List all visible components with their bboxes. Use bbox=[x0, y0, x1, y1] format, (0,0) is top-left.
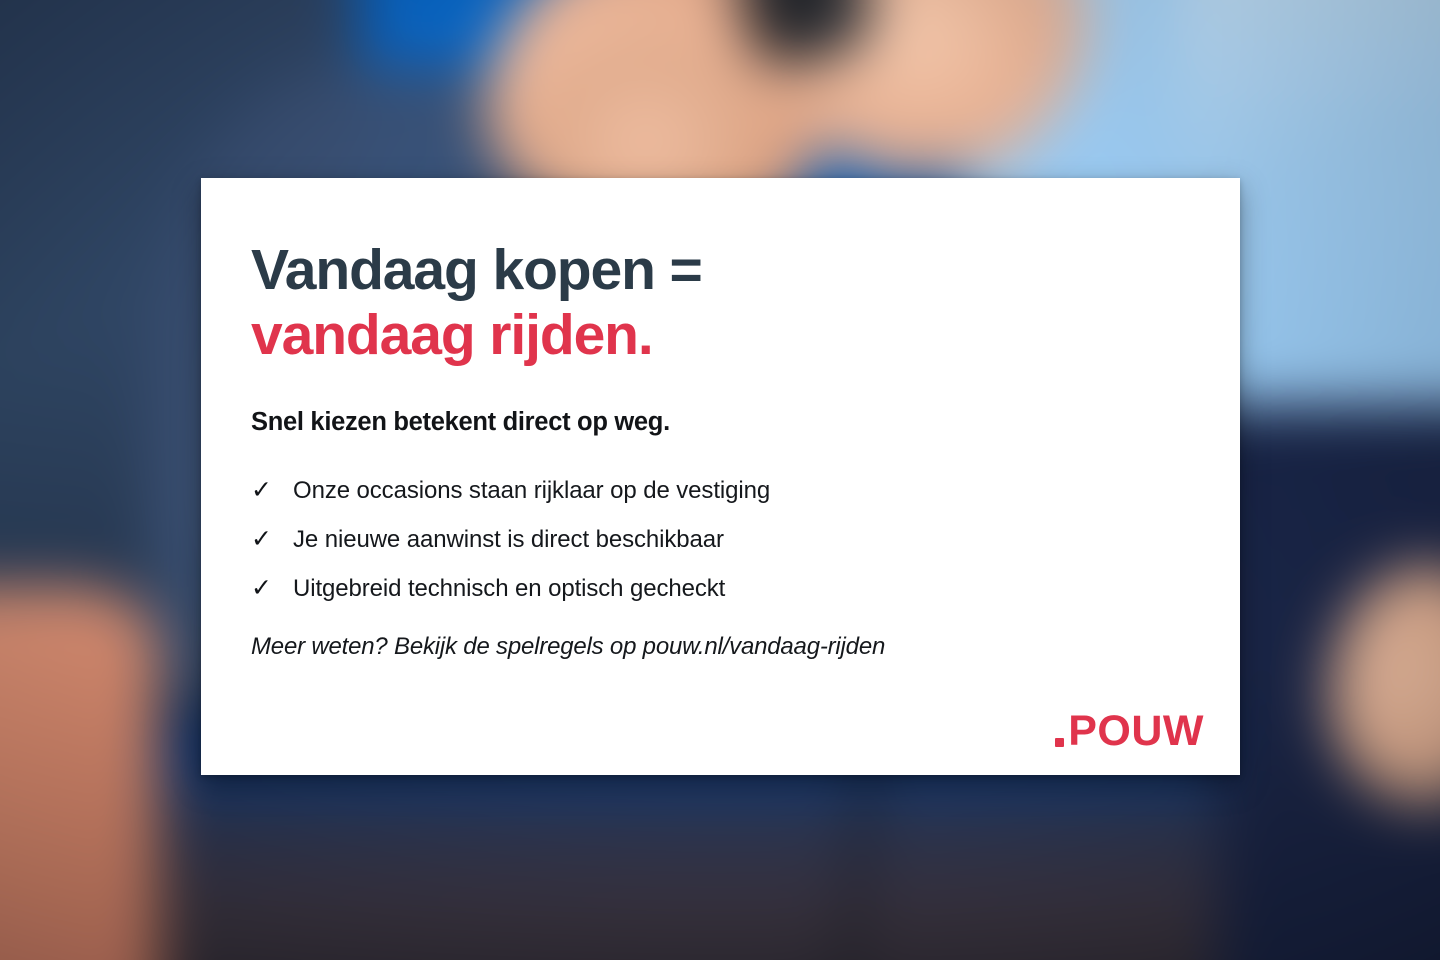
page-title: Vandaag kopen = vandaag rijden. bbox=[251, 238, 1186, 368]
list-item: ✓ Uitgebreid technisch en optisch gechec… bbox=[251, 573, 1186, 605]
benefits-list: ✓ Onze occasions staan rijklaar op de ve… bbox=[251, 475, 1186, 605]
pouw-logo[interactable]: POUW bbox=[1055, 710, 1204, 753]
logo-wordmark: POUW bbox=[1068, 710, 1204, 753]
footnote-link-text[interactable]: Meer weten? Bekijk de spelregels op pouw… bbox=[251, 633, 1186, 661]
check-icon: ✓ bbox=[251, 526, 293, 551]
headline-line-1: Vandaag kopen = bbox=[251, 238, 1186, 303]
list-item: ✓ Onze occasions staan rijklaar op de ve… bbox=[251, 475, 1186, 507]
check-icon: ✓ bbox=[251, 477, 293, 502]
list-item: ✓ Je nieuwe aanwinst is direct beschikba… bbox=[251, 524, 1186, 556]
benefit-label: Uitgebreid technisch en optisch gecheckt bbox=[293, 573, 725, 605]
promo-banner: Vandaag kopen = vandaag rijden. Snel kie… bbox=[0, 0, 1440, 960]
check-icon: ✓ bbox=[251, 575, 293, 600]
promo-card: Vandaag kopen = vandaag rijden. Snel kie… bbox=[201, 178, 1240, 775]
benefit-label: Je nieuwe aanwinst is direct beschikbaar bbox=[293, 524, 724, 556]
subheadline: Snel kiezen betekent direct op weg. bbox=[251, 408, 1186, 437]
headline-line-2: vandaag rijden. bbox=[251, 303, 1186, 368]
benefit-label: Onze occasions staan rijklaar op de vest… bbox=[293, 475, 770, 507]
logo-dot-icon bbox=[1055, 738, 1064, 747]
